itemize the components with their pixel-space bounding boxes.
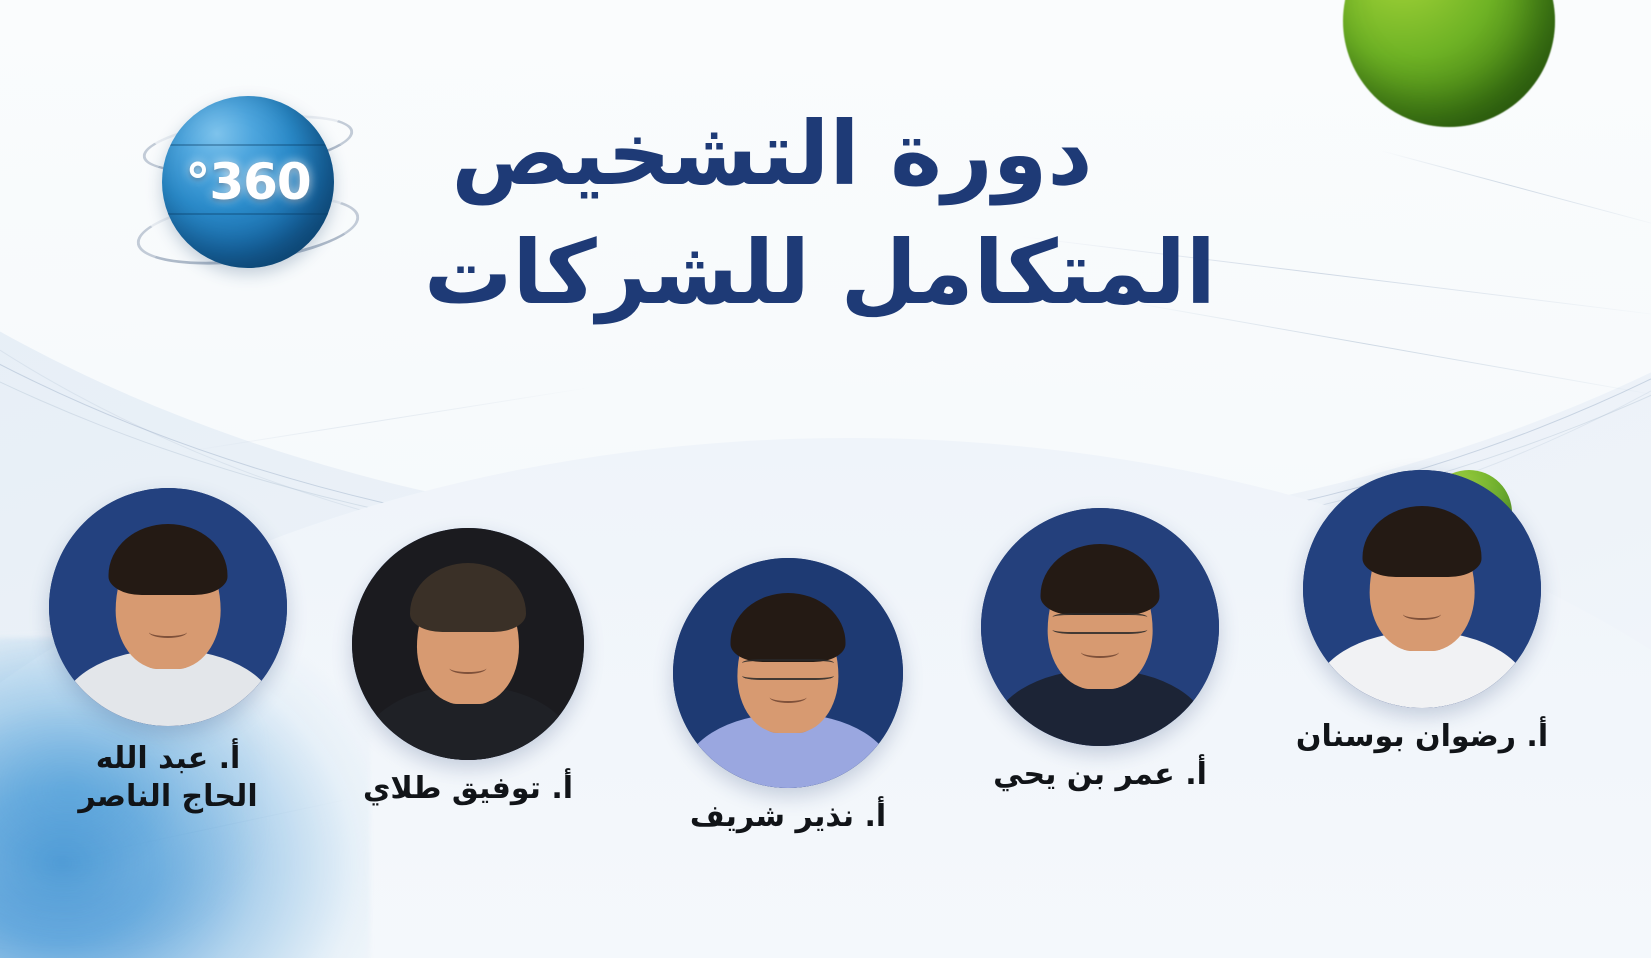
avatar-3 <box>673 558 903 788</box>
speaker-card-4: أ. عمر بن يحي <box>950 508 1250 794</box>
speaker-name-4: أ. عمر بن يحي <box>950 756 1250 794</box>
avatar-2 <box>352 528 584 760</box>
speaker-name-1: أ. عبد الله الحاج الناصر <box>18 740 318 815</box>
title-line-2: المتكامل للشركات <box>300 214 1340 333</box>
speaker-card-2: أ. توفيق طلاي <box>318 528 618 808</box>
logo-text: °360 <box>185 153 310 211</box>
speaker-card-1: أ. عبد الله الحاج الناصر <box>18 488 318 815</box>
portrait-smile-1 <box>149 626 187 638</box>
speaker-name-5: أ. رضوان بوسنان <box>1262 718 1582 756</box>
speaker-card-5: أ. رضوان بوسنان <box>1262 470 1582 756</box>
title-line-1: دورة التشخيص <box>300 95 1244 214</box>
portrait-smile-3 <box>770 691 807 703</box>
portrait-illustration-2 <box>352 528 584 760</box>
portrait-glasses-4 <box>1052 613 1147 634</box>
portrait-smile-2 <box>449 663 486 675</box>
avatar-4 <box>981 508 1219 746</box>
portrait-glasses-3 <box>742 659 834 680</box>
portrait-smile-4 <box>1081 646 1119 658</box>
speaker-card-3: أ. نذير شريف <box>638 558 938 836</box>
portrait-smile-5 <box>1403 608 1441 620</box>
poster-title: دورة التشخيص المتكامل للشركات <box>300 95 1280 333</box>
portrait-illustration-3 <box>673 558 903 788</box>
portrait-illustration-4 <box>981 508 1219 746</box>
avatar-1 <box>49 488 287 726</box>
speaker-name-2: أ. توفيق طلاي <box>318 770 618 808</box>
avatar-5 <box>1303 470 1541 708</box>
portrait-illustration-5 <box>1303 470 1541 708</box>
portrait-illustration-1 <box>49 488 287 726</box>
poster-canvas: °360 دورة التشخيص المتكامل للشركات أ. عب… <box>0 0 1651 958</box>
speaker-name-3: أ. نذير شريف <box>638 798 938 836</box>
